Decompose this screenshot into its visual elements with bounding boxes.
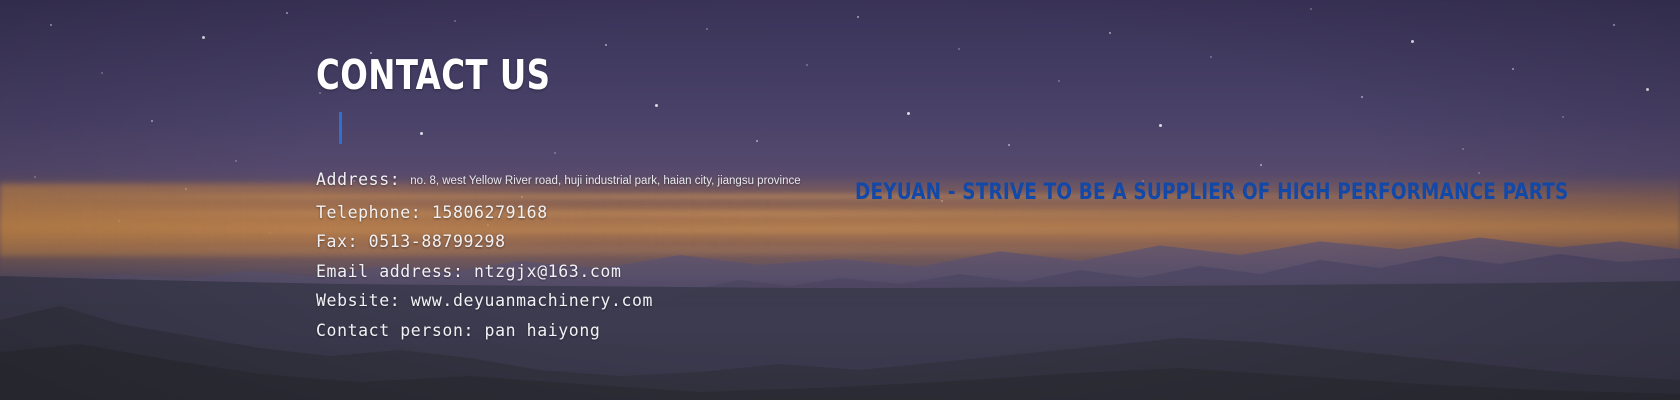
address-value: no. 8, west Yellow River road, huji indu… [400,175,800,187]
company-slogan: DEYUAN - STRIVE TO BE A SUPPLIER OF HIGH… [855,182,1568,204]
contact-website-row[interactable]: Website: www.deyuanmachinery.com [316,286,1416,316]
title-accent-bar [339,112,342,144]
page-title: CONTACT US [316,55,1284,96]
address-label: Address: [316,170,400,189]
contact-person-row: Contact person: pan haiyong [316,316,1416,346]
contact-email-row[interactable]: Email address: ntzgjx@163.com [316,257,1416,287]
contact-fax-row: Fax: 0513-88799298 [316,227,1416,257]
contact-banner: CONTACT US Address:no. 8, west Yellow Ri… [0,0,1680,400]
